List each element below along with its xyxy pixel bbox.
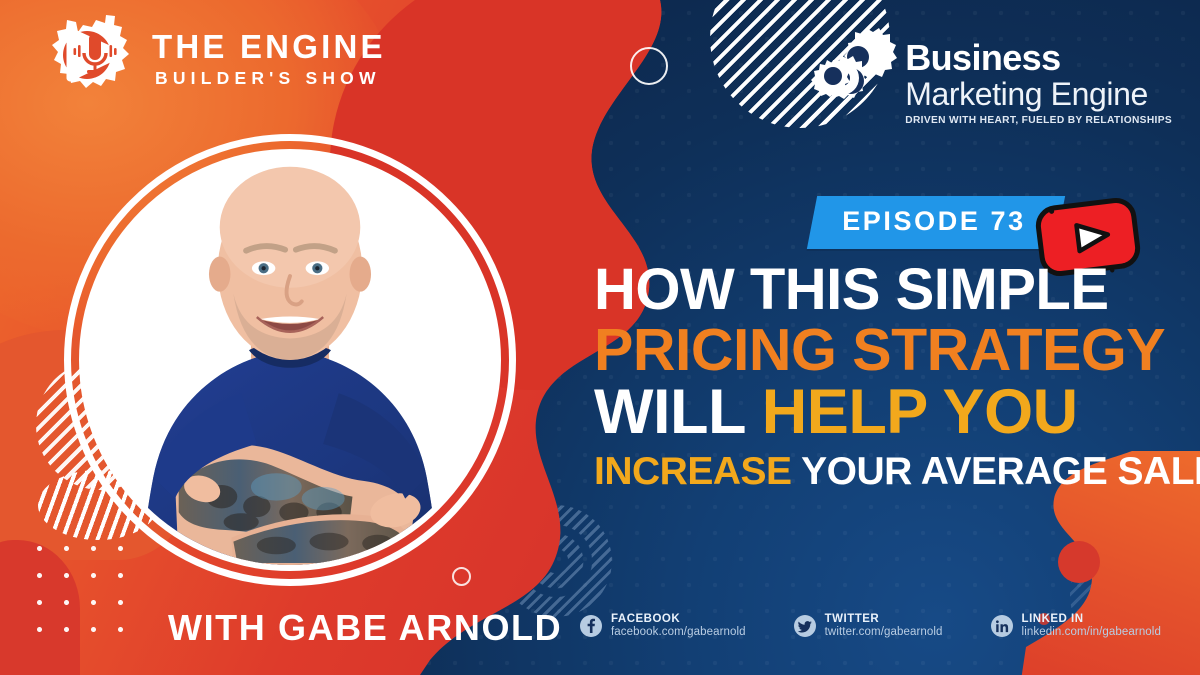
- headline-line-1: HOW THIS SIMPLE: [594, 262, 1174, 318]
- social-bar: FACEBOOK facebook.com/gabearnold TWITTER…: [580, 613, 1161, 639]
- headline-line-3-plain: WILL: [594, 377, 762, 447]
- brand-logo: Business Marketing Engine DRIVEN WITH HE…: [811, 24, 1172, 126]
- social-url-linkedin: linkedin.com/in/gabearnold: [1022, 626, 1161, 639]
- gear-play-microphone-icon: [42, 14, 138, 100]
- headline: HOW THIS SIMPLE PRICING STRATEGY WILL HE…: [594, 262, 1174, 490]
- headline-line-4-highlight: INCREASE: [594, 450, 801, 493]
- brand-name-line1: Business: [905, 40, 1172, 76]
- gears-icon: [811, 26, 897, 118]
- linkedin-icon: [991, 615, 1013, 637]
- social-name-linkedin: LINKED IN: [1022, 613, 1161, 626]
- headline-line-3: WILL HELP YOU: [594, 382, 1174, 442]
- headline-line-4-plain: YOUR AVERAGE SALE: [801, 450, 1200, 493]
- brand-tagline: DRIVEN WITH HEART, FUELED BY RELATIONSHI…: [905, 116, 1172, 126]
- show-logo: THE ENGINE BUILDER'S SHOW: [42, 14, 386, 100]
- headline-line-4: INCREASE YOUR AVERAGE SALE: [594, 453, 1174, 490]
- show-subtitle: BUILDER'S SHOW: [152, 70, 386, 88]
- social-item-linkedin[interactable]: LINKED IN linkedin.com/in/gabearnold: [991, 613, 1161, 639]
- social-name-twitter: TWITTER: [825, 613, 943, 626]
- episode-thumbnail: THE ENGINE BUILDER'S SHOW Business Marke…: [0, 0, 1200, 675]
- show-title: THE ENGINE: [152, 30, 386, 63]
- portrait-inner-ring: [79, 149, 501, 571]
- facebook-icon: [580, 615, 602, 637]
- portrait-image: [85, 155, 495, 565]
- host-credit: WITH GABE ARNOLD: [168, 607, 562, 649]
- social-item-twitter[interactable]: TWITTER twitter.com/gabearnold: [794, 613, 943, 639]
- social-url-facebook: facebook.com/gabearnold: [611, 626, 746, 639]
- headline-line-2: PRICING STRATEGY: [594, 322, 1174, 379]
- headline-line-3-highlight: HELP YOU: [762, 377, 1078, 447]
- twitter-icon: [794, 615, 816, 637]
- host-portrait: [64, 134, 516, 586]
- red-circle-accent: [1058, 541, 1100, 583]
- outline-circle-top: [630, 47, 668, 85]
- social-name-facebook: FACEBOOK: [611, 613, 746, 626]
- episode-badge: EPISODE 73: [807, 196, 1065, 249]
- social-item-facebook[interactable]: FACEBOOK facebook.com/gabearnold: [580, 613, 746, 639]
- episode-badge-label: EPISODE 73: [842, 206, 1026, 237]
- social-url-twitter: twitter.com/gabearnold: [825, 626, 943, 639]
- brand-name-line2: Marketing Engine: [905, 78, 1172, 110]
